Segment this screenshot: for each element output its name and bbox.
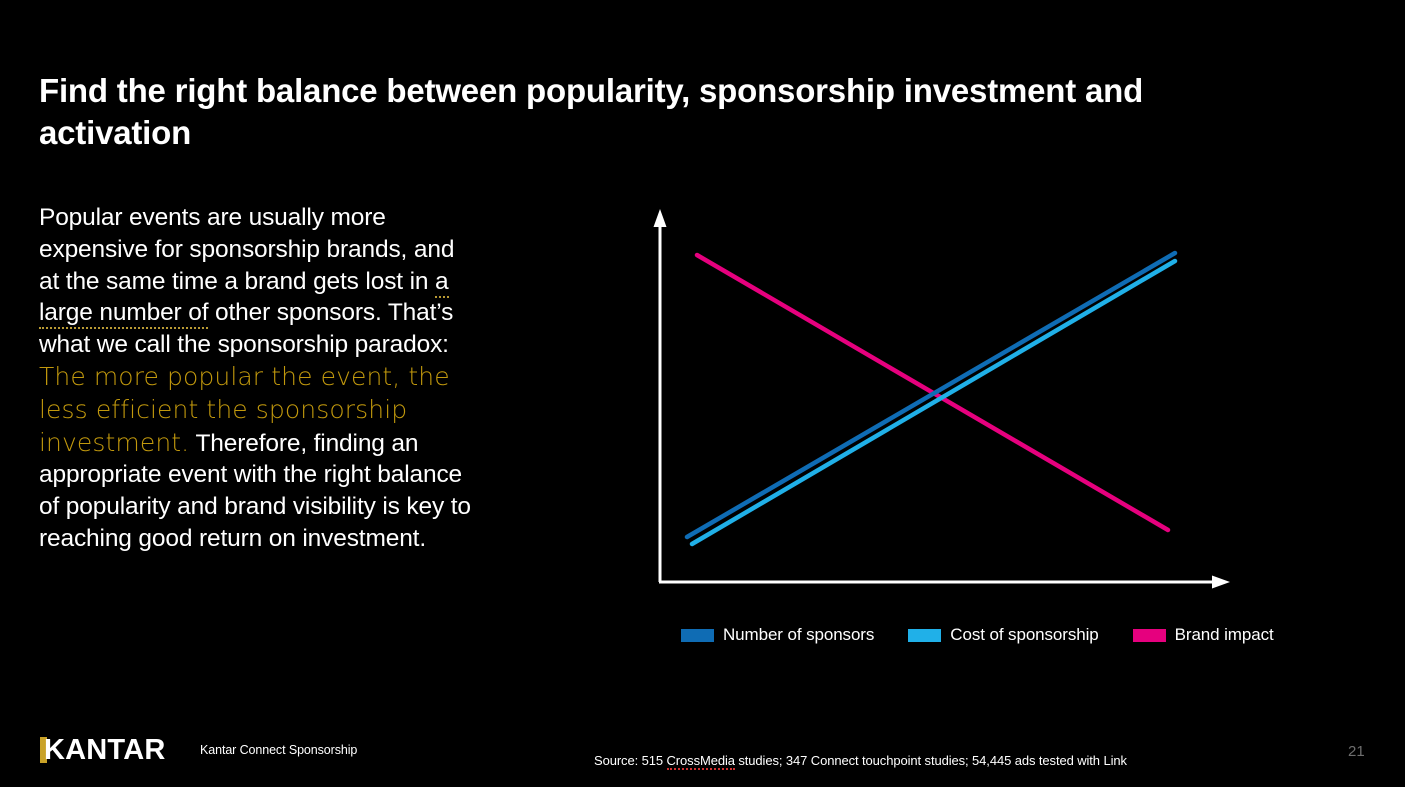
- body-paragraph: Popular events are usually more expensiv…: [39, 202, 475, 555]
- legend-item-brand-impact[interactable]: Brand impact: [1133, 625, 1274, 645]
- legend-swatch-number-of-sponsors: [681, 629, 714, 642]
- source-note: Source: 515 CrossMedia studies; 347 Conn…: [594, 753, 1127, 768]
- x-axis-arrowhead: [1212, 576, 1230, 589]
- page-number: 21: [1348, 743, 1365, 760]
- sponsorship-paradox-chart: [640, 200, 1250, 600]
- series-line-number-of-sponsors: [687, 253, 1175, 537]
- legend-swatch-brand-impact: [1133, 629, 1166, 642]
- legend-swatch-cost-of-sponsorship: [908, 629, 941, 642]
- source-text-part2: studies; 347 Connect touchpoint studies;…: [735, 753, 1127, 768]
- source-text-part1: Source: 515: [594, 753, 667, 768]
- kantar-logo-text: KANTAR: [44, 736, 165, 765]
- page-title: Find the right balance between popularit…: [39, 70, 1279, 154]
- legend-label-number-of-sponsors: Number of sponsors: [723, 625, 874, 645]
- y-axis-arrowhead: [654, 209, 667, 227]
- body-text-part1: Popular events are usually more expensiv…: [39, 204, 454, 295]
- y-axis: [654, 209, 667, 582]
- legend-item-cost-of-sponsorship[interactable]: Cost of sponsorship: [908, 625, 1098, 645]
- legend-label-cost-of-sponsorship: Cost of sponsorship: [950, 625, 1098, 645]
- slide-canvas: Find the right balance between popularit…: [0, 0, 1405, 787]
- kantar-logo: KANTAR: [40, 735, 165, 765]
- series-line-cost-of-sponsorship: [692, 261, 1175, 544]
- deck-name-label: Kantar Connect Sponsorship: [200, 743, 357, 757]
- x-axis: [659, 576, 1230, 589]
- legend-item-number-of-sponsors[interactable]: Number of sponsors: [681, 625, 874, 645]
- legend-label-brand-impact: Brand impact: [1175, 625, 1274, 645]
- spellcheck-flagged-word: CrossMedia: [667, 753, 735, 770]
- chart-legend: Number of sponsors Cost of sponsorship B…: [681, 625, 1274, 645]
